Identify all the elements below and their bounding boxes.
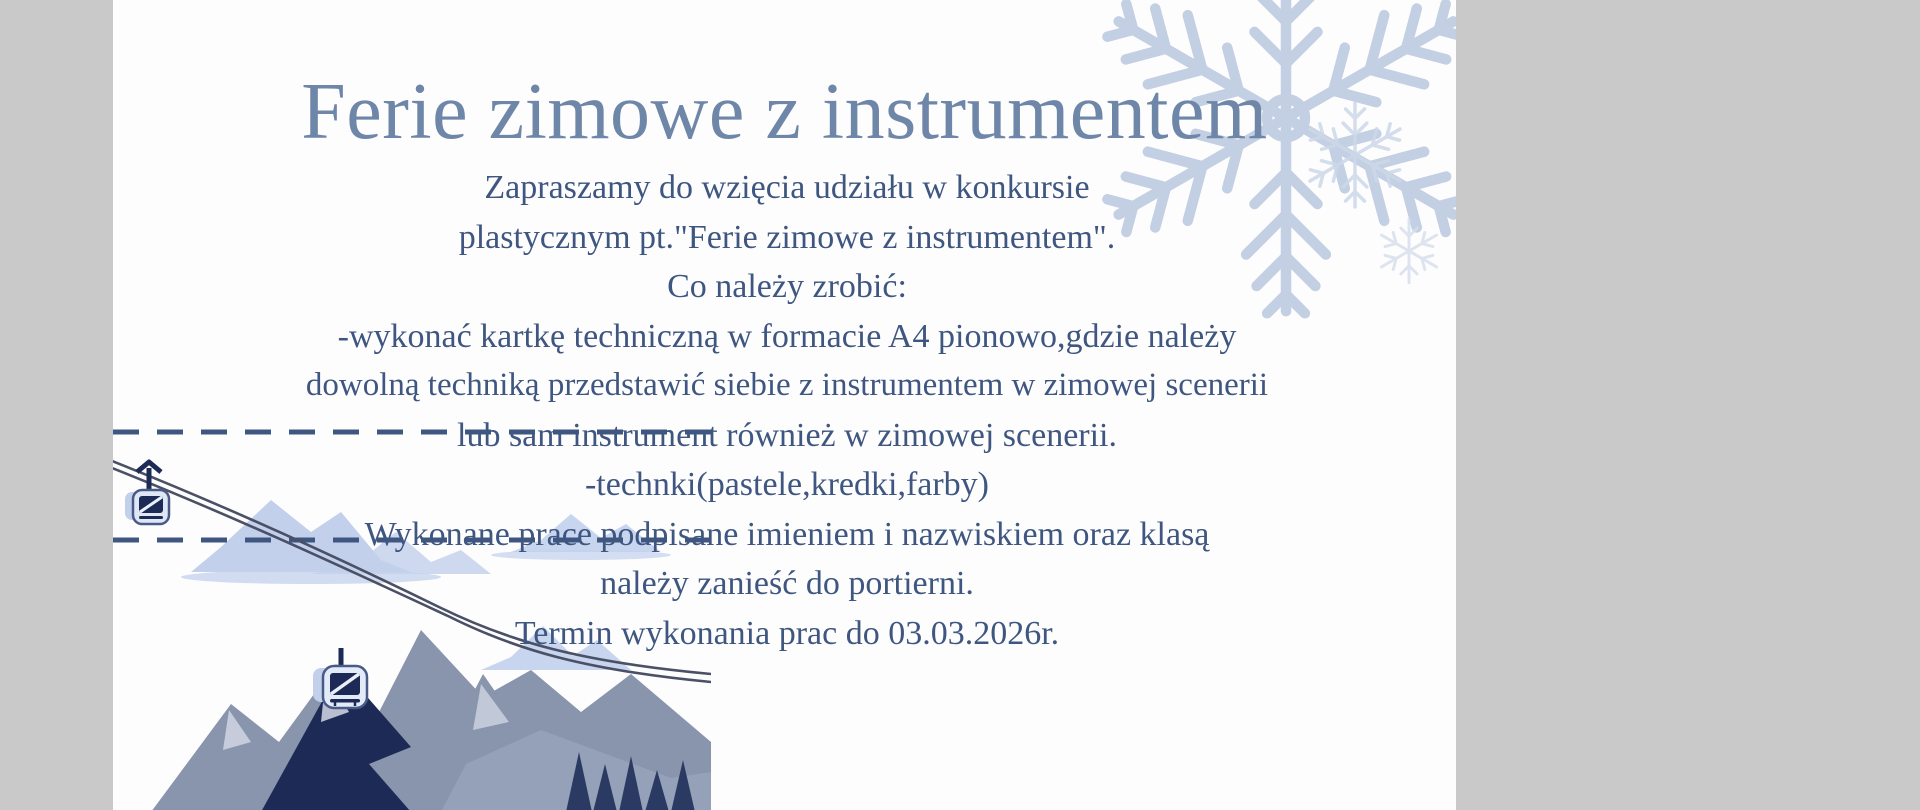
slide-page: Ferie zimowe z instrumentem bbox=[113, 0, 1456, 810]
body-line: plastycznym pt."Ferie zimowe z instrumen… bbox=[113, 213, 1456, 263]
body-line: -technki(pastele,kredki,farby) bbox=[113, 460, 1456, 510]
body-line: -wykonać kartkę techniczną w formacie A4… bbox=[113, 312, 1456, 362]
body-line: Wykonane prace podpisane imieniem i nazw… bbox=[113, 510, 1456, 560]
body-line: dowolną techniką przedstawić siebie z in… bbox=[113, 361, 1456, 411]
body-line: Co należy zrobić: bbox=[113, 262, 1456, 312]
body-text-block: Zapraszamy do wzięcia udziału w konkursi… bbox=[113, 163, 1456, 658]
body-line: Termin wykonania prac do 03.03.2026r. bbox=[113, 609, 1456, 659]
page-title: Ferie zimowe z instrumentem bbox=[113, 68, 1456, 158]
body-line: lub sam instrument również w zimowej sce… bbox=[113, 411, 1456, 461]
conifer-trees bbox=[566, 752, 695, 810]
body-line: Zapraszamy do wzięcia udziału w konkursi… bbox=[113, 163, 1456, 213]
body-line: należy zanieść do portierni. bbox=[113, 559, 1456, 609]
slide-canvas: Ferie zimowe z instrumentem bbox=[0, 0, 1920, 810]
